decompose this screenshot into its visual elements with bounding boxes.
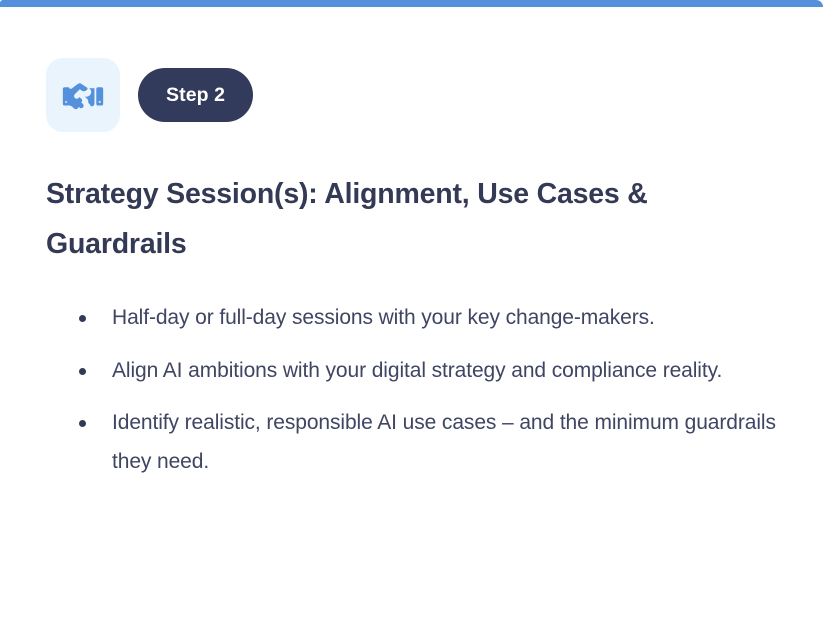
list-item: Half-day or full-day sessions with your … — [46, 299, 777, 338]
list-item-text: Identify realistic, responsible AI use c… — [112, 411, 776, 473]
list-item-text: Half-day or full-day sessions with your … — [112, 306, 655, 329]
card-header-row: Step 2 — [46, 58, 777, 132]
bullet-dot-icon — [79, 315, 86, 322]
handshake-icon-tile — [46, 58, 120, 132]
page-title: Strategy Session(s): Alignment, Use Case… — [46, 169, 766, 269]
handshake-icon — [61, 73, 105, 117]
bullet-dot-icon — [79, 420, 86, 427]
list-item-text: Align AI ambitions with your digital str… — [112, 359, 722, 382]
list-item: Align AI ambitions with your digital str… — [46, 352, 777, 391]
bullet-list: Half-day or full-day sessions with your … — [46, 299, 777, 481]
top-accent-bar — [0, 0, 823, 7]
step-card: Step 2 Strategy Session(s): Alignment, U… — [0, 0, 823, 636]
bullet-dot-icon — [79, 368, 86, 375]
list-item: Identify realistic, responsible AI use c… — [46, 404, 777, 481]
card-body: Step 2 Strategy Session(s): Alignment, U… — [0, 7, 823, 636]
step-badge: Step 2 — [138, 68, 253, 122]
